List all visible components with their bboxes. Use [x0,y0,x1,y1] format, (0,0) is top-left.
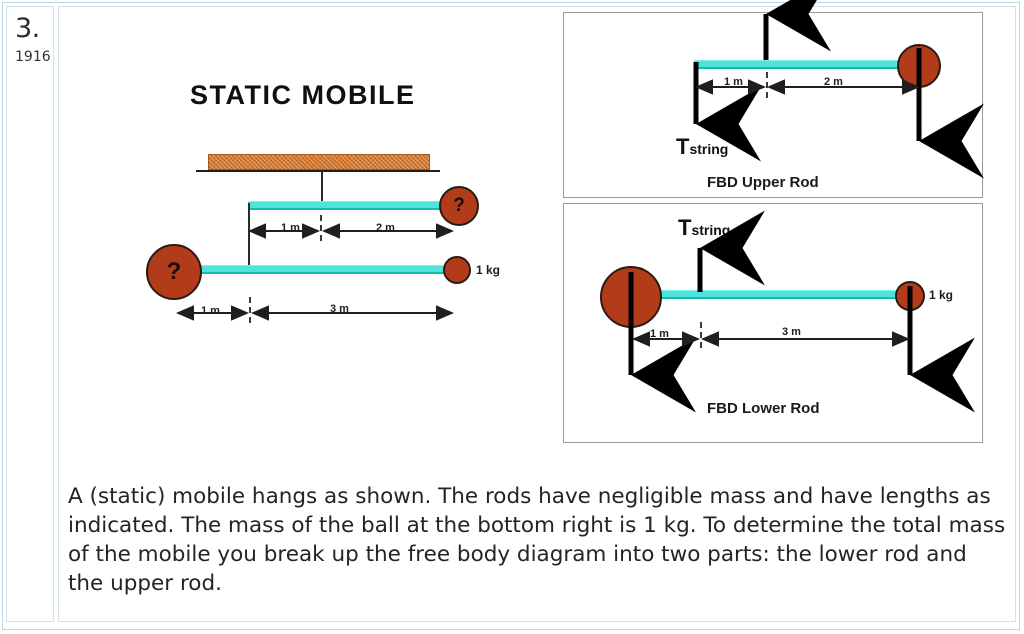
lower-rod-dim-right-label: 3 m [330,303,349,315]
upper-rod-center-dash [320,215,322,241]
upper-rod-dim-right-label: 2 m [376,222,395,234]
fbd-upper-tension-subscript: string [689,141,728,157]
question-number: 3. [15,13,40,44]
lower-rod-left-ball: ? [146,244,202,300]
ceiling-hatch-bar [208,154,430,170]
fbd-upper-rod-dim-right-label: 2 m [824,76,843,88]
fbd-lower-rod-right-ball [895,281,925,311]
ceiling-to-upper-rod-string [321,170,323,203]
fbd-upper-rod-dim-left-label: 1 m [724,76,743,88]
fbd-lower-rod-dim-right-label: 3 m [782,326,801,338]
fbd-lower-tension-subscript: string [691,222,730,238]
fbd-lower-rod-bar [650,290,908,299]
upper-rod-right-ball: ? [439,186,479,226]
lower-rod-dim-left-label: 1 m [201,305,220,317]
fbd-upper-rod-bar [694,60,910,69]
fbd-lower-rod-caption: FBD Lower Rod [707,400,820,417]
fbd-lower-rod-left-ball [600,266,662,328]
fbd-lower-rod-tension-label: Tstring [678,217,730,240]
question-body-text: A (static) mobile hangs as shown. The ro… [68,482,1008,598]
lower-rod-center-dash [249,297,251,323]
lower-rod-right-ball [443,256,471,284]
fbd-upper-rod-right-ball [897,44,941,88]
screenshot-page: 3. 1916 STATIC MOBILE ? ? 1 kg [0,0,1024,634]
upper-rod-right-ball-label: ? [453,195,465,217]
upper-rod [248,201,453,210]
upper-to-lower-rod-string [248,203,250,268]
lower-rod-right-mass-label: 1 kg [476,263,500,277]
fbd-upper-rod-caption: FBD Upper Rod [707,174,819,191]
fbd-lower-rod-center-dash [700,322,702,348]
question-id: 1916 [15,49,51,65]
fbd-lower-rod-dim-left-label: 1 m [650,328,669,340]
fbd-upper-rod-center-dash [766,72,768,98]
fbd-upper-tension-symbol: T [676,134,689,159]
static-mobile-title: STATIC MOBILE [190,80,415,111]
fbd-lower-rod-right-mass-label: 1 kg [929,288,953,302]
lower-rod-left-ball-label: ? [167,258,182,286]
fbd-lower-tension-symbol: T [678,215,691,240]
question-number-cell: 3. 1916 [6,6,54,622]
fbd-upper-rod-panel [563,12,983,198]
ceiling-support-line [196,170,440,172]
fbd-upper-rod-tension-label: Tstring [676,136,728,159]
lower-rod [196,265,452,274]
upper-rod-dim-left-label: 1 m [281,222,300,234]
